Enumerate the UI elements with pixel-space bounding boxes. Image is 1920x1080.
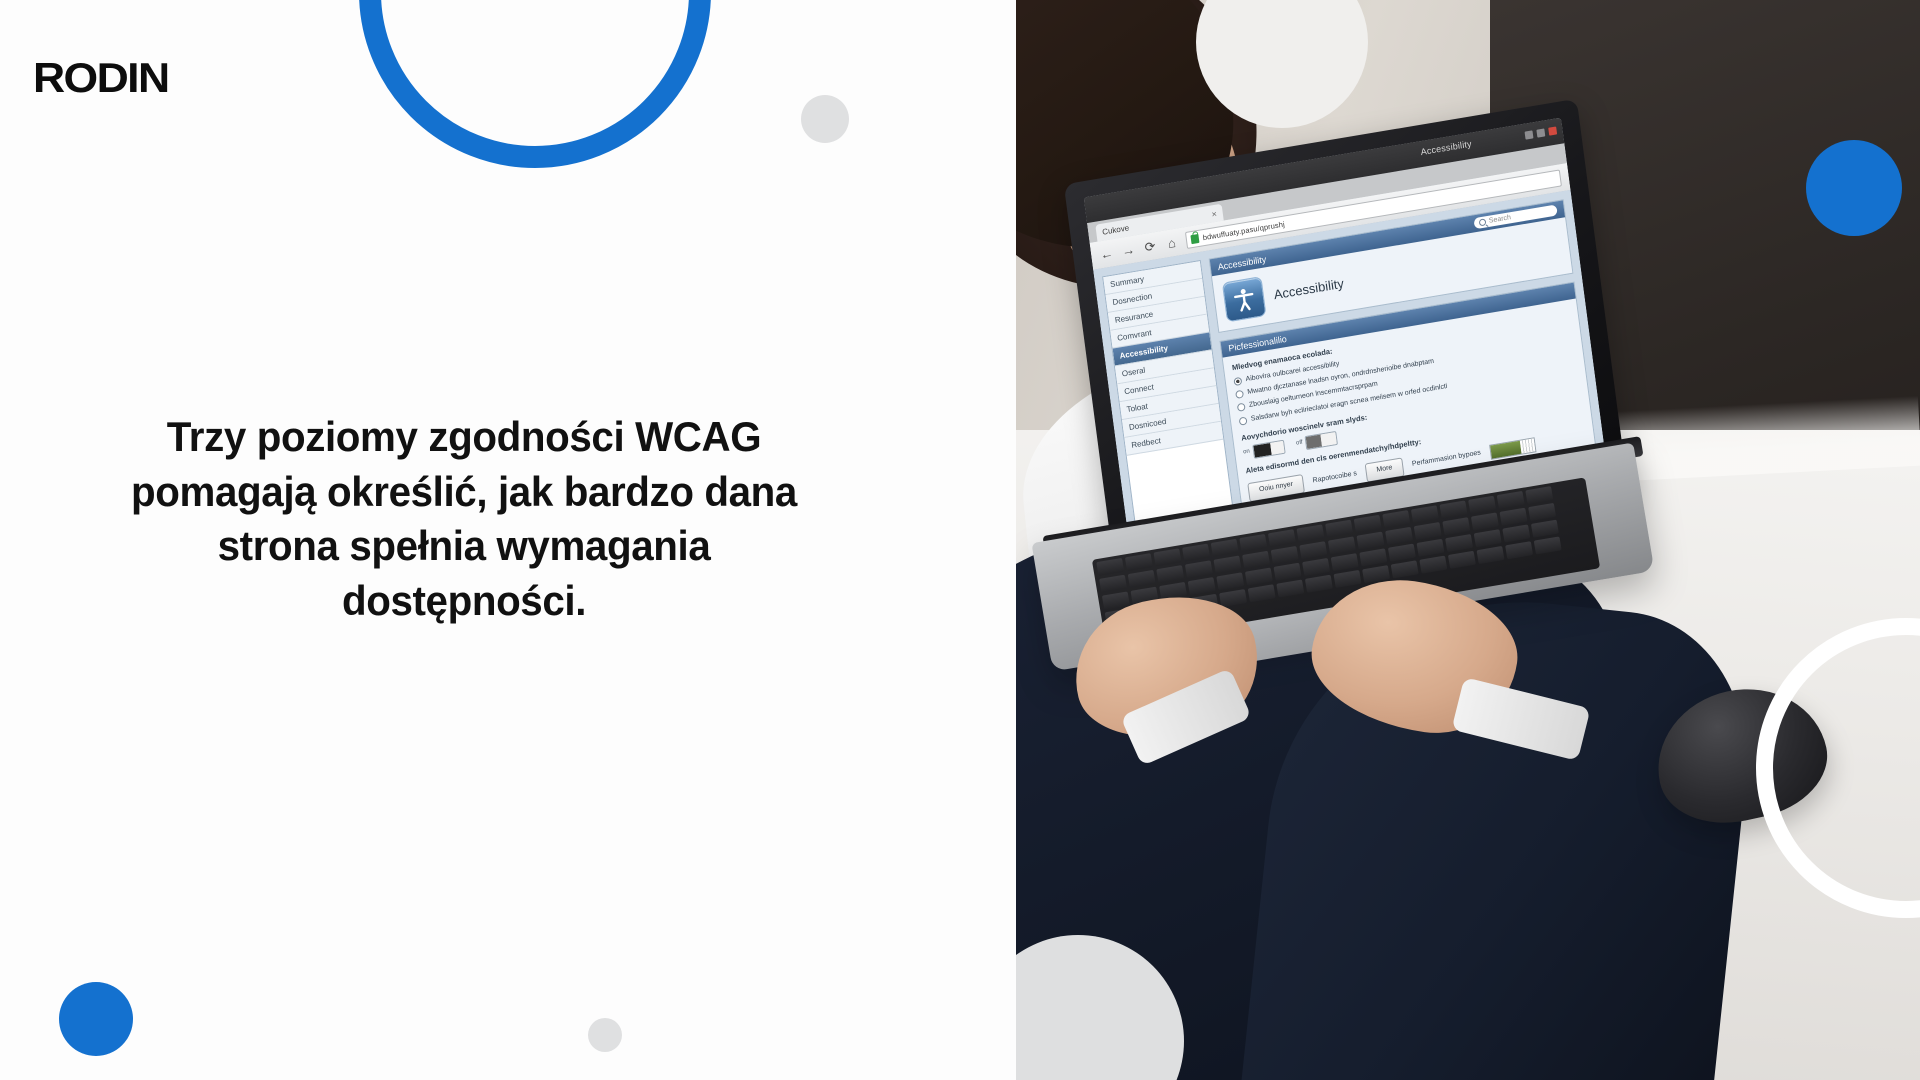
back-icon[interactable]: ← (1098, 245, 1115, 262)
blue-circle-photo-right-decor (1806, 140, 1902, 236)
toggle-on-label: on (1243, 448, 1251, 458)
minimize-icon[interactable] (1525, 130, 1534, 139)
photo-scene: Accessibility Cukove × (1016, 0, 1920, 1080)
window-title: Accessibility (1420, 139, 1472, 157)
slide-root: RODIN Trzy poziomy zgodności WCAG pomaga… (0, 0, 1920, 1080)
radio-icon-selected[interactable] (1233, 376, 1242, 385)
toggle-switch-off[interactable] (1305, 431, 1338, 450)
toggle-switch-on[interactable] (1252, 440, 1285, 459)
radio-icon[interactable] (1235, 390, 1244, 399)
search-icon (1479, 218, 1487, 226)
toggle-off[interactable]: off (1295, 431, 1338, 452)
lock-icon (1190, 234, 1199, 244)
accessibility-icon-caption: Accessibility (1273, 275, 1345, 302)
gray-dot-top-decor (801, 95, 849, 143)
browser-tab-label: Cukove (1102, 223, 1130, 236)
toggle-off-label: off (1296, 439, 1304, 449)
reload-icon[interactable]: ⟳ (1142, 238, 1159, 255)
brand-logo: RODIN (33, 57, 169, 99)
blue-arc-ring (359, 0, 711, 168)
home-icon[interactable]: ⌂ (1163, 234, 1180, 251)
blue-dot-bottom-left-decor (59, 982, 133, 1056)
search-placeholder: Search (1489, 214, 1512, 225)
headline: Trzy poziomy zgodności WCAG pomagają okr… (99, 410, 829, 628)
radio-icon[interactable] (1237, 403, 1246, 412)
radio-icon[interactable] (1239, 416, 1248, 425)
tab-close-icon[interactable]: × (1211, 208, 1217, 219)
close-icon[interactable] (1548, 126, 1557, 135)
headline-line-1: Trzy poziomy zgodności WCAG (99, 410, 829, 465)
forward-icon[interactable]: → (1120, 242, 1137, 259)
toggle-on[interactable]: on (1242, 440, 1285, 461)
maximize-icon[interactable] (1536, 128, 1545, 137)
gray-dot-bottom-decor (588, 1018, 622, 1052)
headline-line-3: strona spełnia wymagania (99, 519, 829, 574)
headline-line-4: dostępności. (99, 574, 829, 629)
window-controls (1525, 126, 1558, 139)
left-content-panel: RODIN Trzy poziomy zgodności WCAG pomaga… (0, 0, 1016, 1080)
headline-line-2: pomagają określić, jak bardzo dana (99, 465, 829, 520)
photo-panel: Accessibility Cukove × (1016, 0, 1920, 1080)
accessibility-icon (1222, 276, 1267, 322)
